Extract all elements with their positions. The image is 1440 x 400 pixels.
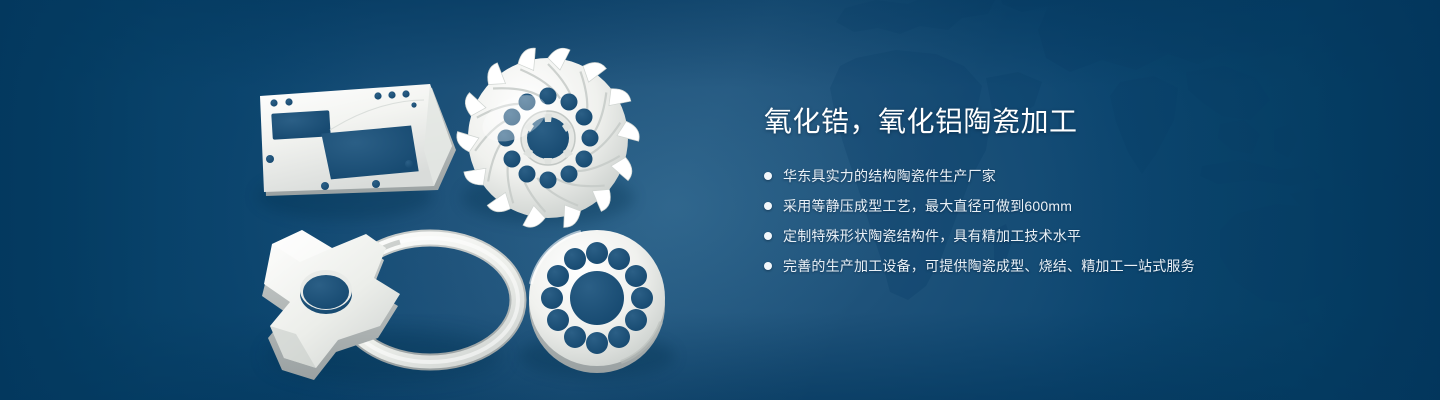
product-photo-group — [0, 0, 720, 400]
list-item-label: 采用等静压成型工艺，最大直径可做到600mm — [783, 195, 1072, 217]
feature-list: 华东具实力的结构陶瓷件生产厂家 采用等静压成型工艺，最大直径可做到600mm 定… — [764, 165, 1384, 277]
list-item-label: 华东具实力的结构陶瓷件生产厂家 — [783, 165, 996, 187]
bullet-dot-icon — [764, 202, 772, 210]
ceramic-mounting-plate — [260, 84, 456, 196]
list-item: 完善的生产加工设备，可提供陶瓷成型、烧结、精加工一站式服务 — [764, 255, 1384, 277]
page-title: 氧化锆，氧化铝陶瓷加工 — [764, 104, 1384, 139]
bullet-dot-icon — [764, 172, 772, 180]
list-item: 采用等静压成型工艺，最大直径可做到600mm — [764, 195, 1384, 217]
ceramic-perforated-ring — [529, 230, 665, 373]
list-item: 华东具实力的结构陶瓷件生产厂家 — [764, 165, 1384, 187]
hero-banner: 氧化锆，氧化铝陶瓷加工 华东具实力的结构陶瓷件生产厂家 采用等静压成型工艺，最大… — [0, 0, 1440, 400]
bullet-dot-icon — [764, 262, 772, 270]
list-item-label: 完善的生产加工设备，可提供陶瓷成型、烧结、精加工一站式服务 — [783, 255, 1195, 277]
copy-block: 氧化锆，氧化铝陶瓷加工 华东具实力的结构陶瓷件生产厂家 采用等静压成型工艺，最大… — [764, 104, 1384, 277]
bullet-dot-icon — [764, 232, 772, 240]
list-item-label: 定制特殊形状陶瓷结构件，具有精加工技术水平 — [783, 225, 1081, 247]
list-item: 定制特殊形状陶瓷结构件，具有精加工技术水平 — [764, 225, 1384, 247]
